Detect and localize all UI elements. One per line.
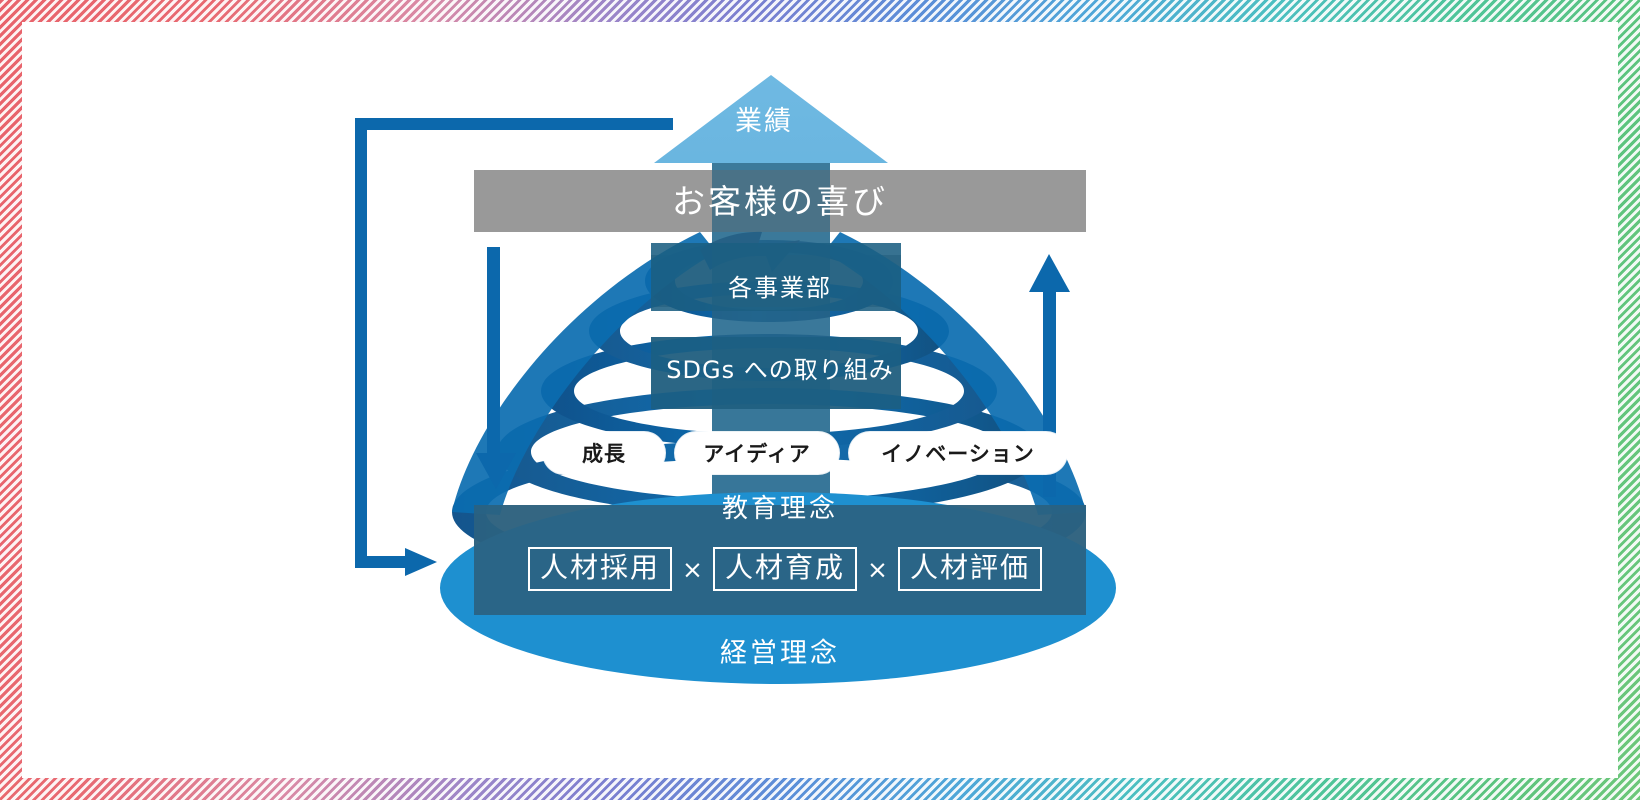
education-philosophy-label: 教育理念: [0, 496, 1560, 522]
multiply-operator-2: ×: [865, 557, 890, 582]
management-philosophy-label: 経営理念: [0, 640, 1560, 667]
value-pill-group: 成長 アイディア イノベーション: [543, 430, 1023, 476]
hr-box-evaluation: 人材評価: [898, 547, 1042, 592]
multiply-operator-1: ×: [680, 557, 705, 582]
pill-idea[interactable]: アイディア: [675, 432, 839, 474]
performance-arrow-label: 業績: [735, 108, 793, 135]
hr-box-recruit: 人材採用: [528, 547, 672, 592]
hr-formula-row: 人材採用 × 人材育成 × 人材評価: [520, 543, 1050, 595]
pill-innovation[interactable]: イノベーション: [849, 432, 1067, 474]
diagram-canvas: 業績 お客様の喜び 各事業部 SDGs への取り組み 教育理念 経営理念 成長 …: [0, 0, 1640, 800]
organization-pyramid-illustration: [0, 0, 1640, 800]
customer-joy-label: お客様の喜び: [0, 185, 1560, 218]
pill-growth[interactable]: 成長: [543, 432, 665, 474]
level-1-label: 各事業部: [0, 276, 1560, 300]
hr-box-development: 人材育成: [713, 547, 857, 592]
level-2-label: SDGs への取り組み: [0, 358, 1560, 382]
